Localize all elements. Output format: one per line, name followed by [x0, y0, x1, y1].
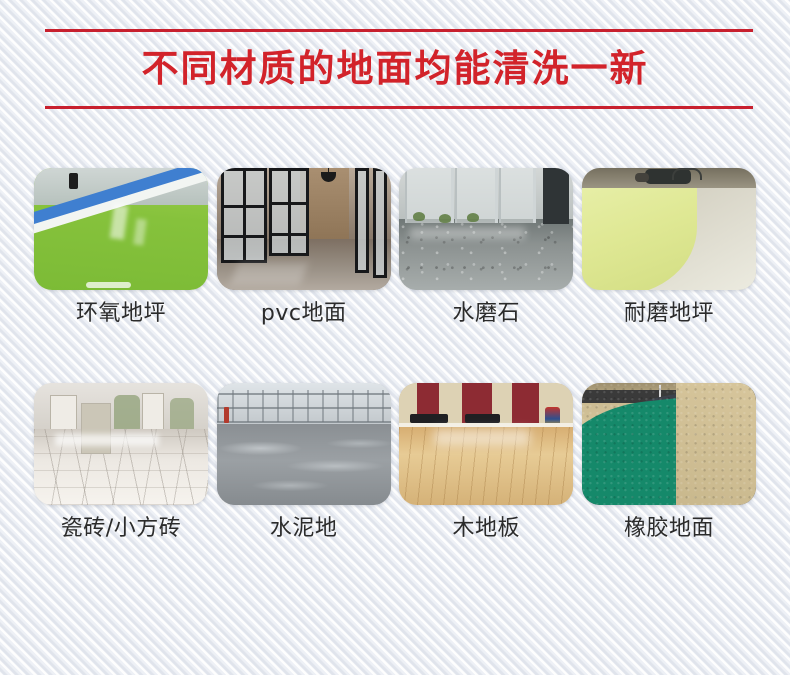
header-rule-bottom — [45, 106, 753, 109]
gallery-item-label: 瓷砖/小方砖 — [61, 515, 181, 543]
gallery-row: 环氧地坪 pvc地面 — [34, 168, 756, 328]
gallery-item-wood[interactable]: 木地板 — [399, 383, 573, 543]
gallery-item-rubber[interactable]: 橡胶地面 — [582, 383, 756, 543]
wear-resistant-floor-photo[interactable] — [582, 168, 756, 290]
gallery-item-label: 木地板 — [453, 515, 521, 543]
header-rule-top — [45, 29, 753, 32]
ceramic-tile-floor-photo[interactable] — [34, 383, 208, 505]
gallery-item-ceramic-tile[interactable]: 瓷砖/小方砖 — [34, 383, 208, 543]
gallery-item-label: 橡胶地面 — [624, 515, 714, 543]
epoxy-green-floor-photo[interactable] — [34, 168, 208, 290]
gallery-item-label: 环氧地坪 — [76, 300, 166, 328]
rubber-track-floor-photo[interactable] — [582, 383, 756, 505]
floor-type-gallery: 环氧地坪 pvc地面 — [34, 168, 756, 543]
gallery-item-pvc[interactable]: pvc地面 — [217, 168, 391, 328]
gallery-item-epoxy[interactable]: 环氧地坪 — [34, 168, 208, 328]
page-title: 不同材质的地面均能清洗一新 — [0, 38, 790, 100]
page-header: 不同材质的地面均能清洗一新 — [0, 0, 790, 140]
terrazzo-polished-floor-photo[interactable] — [399, 168, 573, 290]
gallery-item-label: 水磨石 — [453, 300, 521, 328]
wood-sports-floor-photo[interactable] — [399, 383, 573, 505]
gallery-item-terrazzo[interactable]: 水磨石 — [399, 168, 573, 328]
gallery-item-label: 耐磨地坪 — [624, 300, 714, 328]
gallery-item-wear-resistant[interactable]: 耐磨地坪 — [582, 168, 756, 328]
pvc-corridor-floor-photo[interactable] — [217, 168, 391, 290]
gallery-item-cement[interactable]: 水泥地 — [217, 383, 391, 543]
cement-floor-photo[interactable] — [217, 383, 391, 505]
gallery-item-label: pvc地面 — [261, 300, 347, 328]
gallery-item-label: 水泥地 — [270, 515, 338, 543]
gallery-row: 瓷砖/小方砖 水泥地 — [34, 383, 756, 543]
